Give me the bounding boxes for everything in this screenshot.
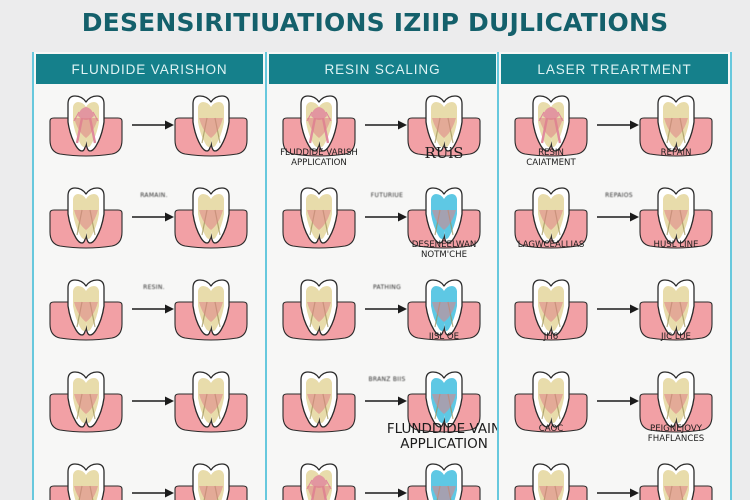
- tooth-before-icon: [44, 272, 128, 346]
- treatment-row: [34, 84, 265, 176]
- step-caption-after: IISL OE: [389, 332, 499, 342]
- tooth-before-icon: [277, 180, 361, 254]
- treatment-row: FLUDDIDE VARISH APPLICATIONRUiS: [267, 84, 498, 176]
- tooth-before-icon: [44, 456, 128, 500]
- column-header-1: RESIN SCALING: [269, 54, 496, 84]
- column-header-0: FLUNDIDE VARISHON: [36, 54, 263, 84]
- tooth-after-icon: [634, 456, 718, 500]
- column-body-1: FLUDDIDE VARISH APPLICATIONRUiS FUTURI: [267, 84, 498, 500]
- treatment-row: [34, 360, 265, 452]
- step-caption-before: FLUDDIDE VARISH APPLICATION: [265, 148, 374, 168]
- arrow-label: REPAIOS: [594, 192, 644, 199]
- treatment-row: FENIC: [34, 452, 265, 500]
- step-caption-after: PEIGNEJOVY FHAFLANCES: [621, 424, 731, 444]
- step-caption-before: JH6: [497, 332, 606, 342]
- column-panel-0: FLUNDIDE VARISHON: [32, 52, 267, 500]
- step-caption-after: FLUNDDIDE VAIN APPLICATION: [369, 422, 500, 452]
- step-caption-before: RESIN CAIATMENT: [497, 148, 606, 168]
- column-panel-1: RESIN SCALING FLUDD: [265, 52, 500, 500]
- step-caption-after: RUiS: [389, 148, 499, 158]
- treatment-row: RESIN.: [34, 268, 265, 360]
- tooth-before-icon: [44, 180, 128, 254]
- treatment-row: JH6JIC LUE: [499, 268, 730, 360]
- treatment-row: RAMAIN.: [34, 176, 265, 268]
- arrow-label: RESIN.: [129, 284, 179, 291]
- arrow-label: BRANZ BIIS: [362, 376, 412, 383]
- tooth-after-icon: [169, 272, 253, 346]
- treatment-row: REAIE: [267, 452, 498, 500]
- tooth-before-icon: [44, 88, 128, 162]
- tooth-before-icon: [277, 456, 361, 500]
- tooth-after-icon: [169, 88, 253, 162]
- step-caption-after: HUSL LINE: [621, 240, 731, 250]
- step-caption-before: CAOC: [497, 424, 606, 434]
- arrow-label: PATHING: [362, 284, 412, 291]
- treatment-row: REPAIOSLAGWCEALLIASHUSL LINE: [499, 176, 730, 268]
- tooth-after-icon: [169, 456, 253, 500]
- treatment-row: FUTURIUEDESENEELWAN NOTM'CHE: [267, 176, 498, 268]
- column-panel-2: LASER TREARTMENT RE: [497, 52, 732, 500]
- arrow-label: FUTURIUE: [362, 192, 412, 199]
- step-caption-after: DESENEELWAN NOTM'CHE: [389, 240, 499, 260]
- treatment-row: BRANZ BIISFLUNDDIDE VAIN APPLICATION: [267, 360, 498, 452]
- infographic-poster: DESENSIRITIUATIONS IZIIP DUJLICATIONS FL…: [0, 0, 750, 500]
- page-title: DESENSIRITIUATIONS IZIIP DUJLICATIONS: [0, 8, 750, 37]
- step-caption-after: JIC LUE: [621, 332, 731, 342]
- arrow-label: RAMAIN.: [129, 192, 179, 199]
- tooth-before-icon: [44, 364, 128, 438]
- treatment-row: RESIN CAIATMENTREPAIN: [499, 84, 730, 176]
- tooth-after-icon: [169, 364, 253, 438]
- tooth-after-icon: [169, 180, 253, 254]
- step-caption-after: REPAIN: [621, 148, 731, 158]
- column-body-2: RESIN CAIATMENTREPAIN REPAIOSLAGWCEALL: [499, 84, 730, 500]
- column-header-2: LASER TREARTMENT: [501, 54, 728, 84]
- column-body-0: RAMAIN. RESIN.: [34, 84, 265, 500]
- tooth-before-icon: [277, 364, 361, 438]
- tooth-before-icon: [509, 456, 593, 500]
- treatment-row: PATHINGIISL OE: [267, 268, 498, 360]
- tooth-after-icon: [402, 456, 486, 500]
- treatment-row: [499, 452, 730, 500]
- tooth-before-icon: [277, 272, 361, 346]
- treatment-row: CAOCPEIGNEJOVY FHAFLANCES: [499, 360, 730, 452]
- step-caption-before: LAGWCEALLIAS: [497, 240, 606, 250]
